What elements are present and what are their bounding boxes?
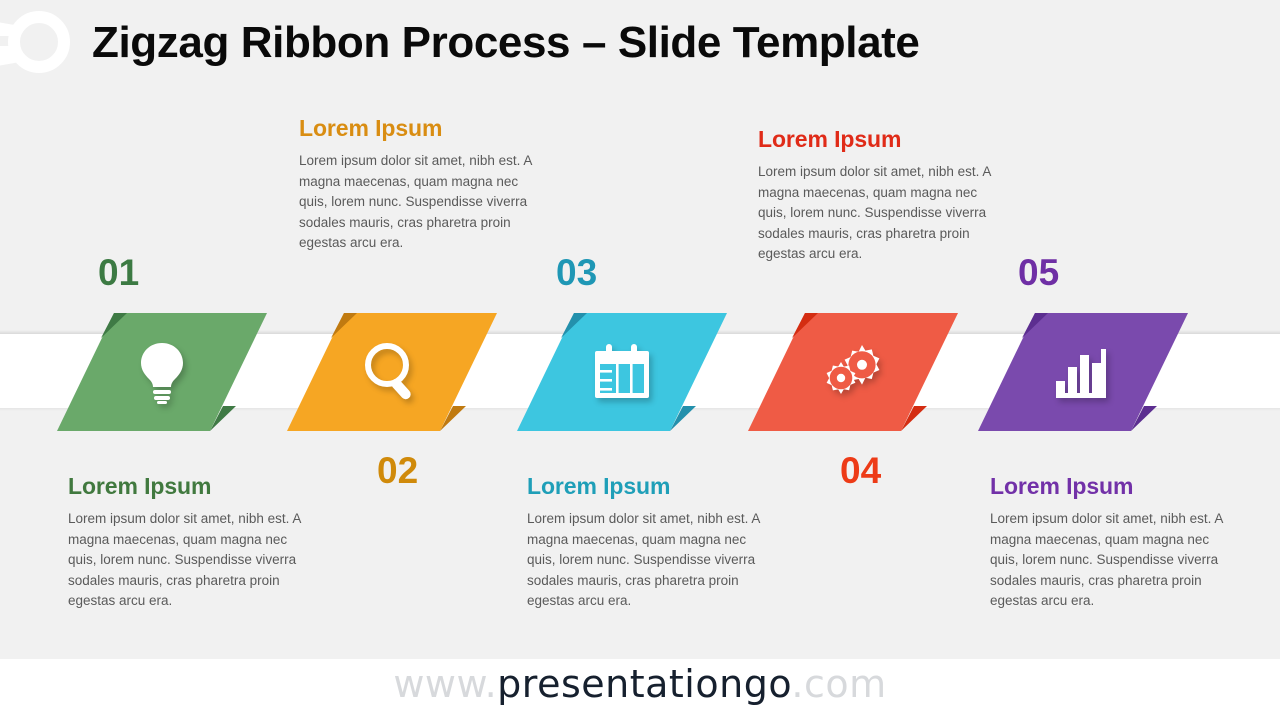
ribbon-shape-01[interactable] [57,313,267,431]
step-text-block-03: Lorem Ipsum Lorem ipsum dolor sit amet, … [527,473,775,612]
page-title: Zigzag Ribbon Process – Slide Template [92,18,920,68]
step-number-02: 02 [377,450,418,492]
step-title-05: Lorem Ipsum [990,473,1238,500]
step-text-block-04: Lorem Ipsum Lorem ipsum dolor sit amet, … [758,126,1006,265]
step-title-04: Lorem Ipsum [758,126,1006,153]
ribbon-shape-04[interactable] [748,313,958,431]
footer-url-prefix: www. [393,662,497,706]
step-title-01: Lorem Ipsum [68,473,316,500]
ribbon-shape-02[interactable] [287,313,497,431]
step-body-02: Lorem ipsum dolor sit amet, nibh est. A … [299,151,547,254]
slide-canvas: Zigzag Ribbon Process – Slide Template 0… [0,0,1280,720]
ribbon-body-03 [517,313,727,431]
step-number-05: 05 [1018,252,1059,294]
step-title-02: Lorem Ipsum [299,115,547,142]
step-title-03: Lorem Ipsum [527,473,775,500]
footer-url-suffix: .com [791,662,886,706]
ribbon-shape-03[interactable] [517,313,727,431]
ribbon-body-05 [978,313,1188,431]
step-body-05: Lorem ipsum dolor sit amet, nibh est. A … [990,509,1238,612]
ribbon-shape-05[interactable] [978,313,1188,431]
step-number-01: 01 [98,252,139,294]
step-number-03: 03 [556,252,597,294]
footer-url[interactable]: www.presentationgo.com [0,662,1280,706]
step-text-block-05: Lorem Ipsum Lorem ipsum dolor sit amet, … [990,473,1238,612]
footer-url-brand: presentationgo [497,662,791,706]
step-text-block-02: Lorem Ipsum Lorem ipsum dolor sit amet, … [299,115,547,254]
ribbon-body-01 [57,313,267,431]
presentationgo-logo-icon [0,6,80,80]
ribbon-body-04 [748,313,958,431]
step-body-04: Lorem ipsum dolor sit amet, nibh est. A … [758,162,1006,265]
step-number-04: 04 [840,450,881,492]
ribbon-body-02 [287,313,497,431]
step-body-01: Lorem ipsum dolor sit amet, nibh est. A … [68,509,316,612]
step-body-03: Lorem ipsum dolor sit amet, nibh est. A … [527,509,775,612]
step-text-block-01: Lorem Ipsum Lorem ipsum dolor sit amet, … [68,473,316,612]
